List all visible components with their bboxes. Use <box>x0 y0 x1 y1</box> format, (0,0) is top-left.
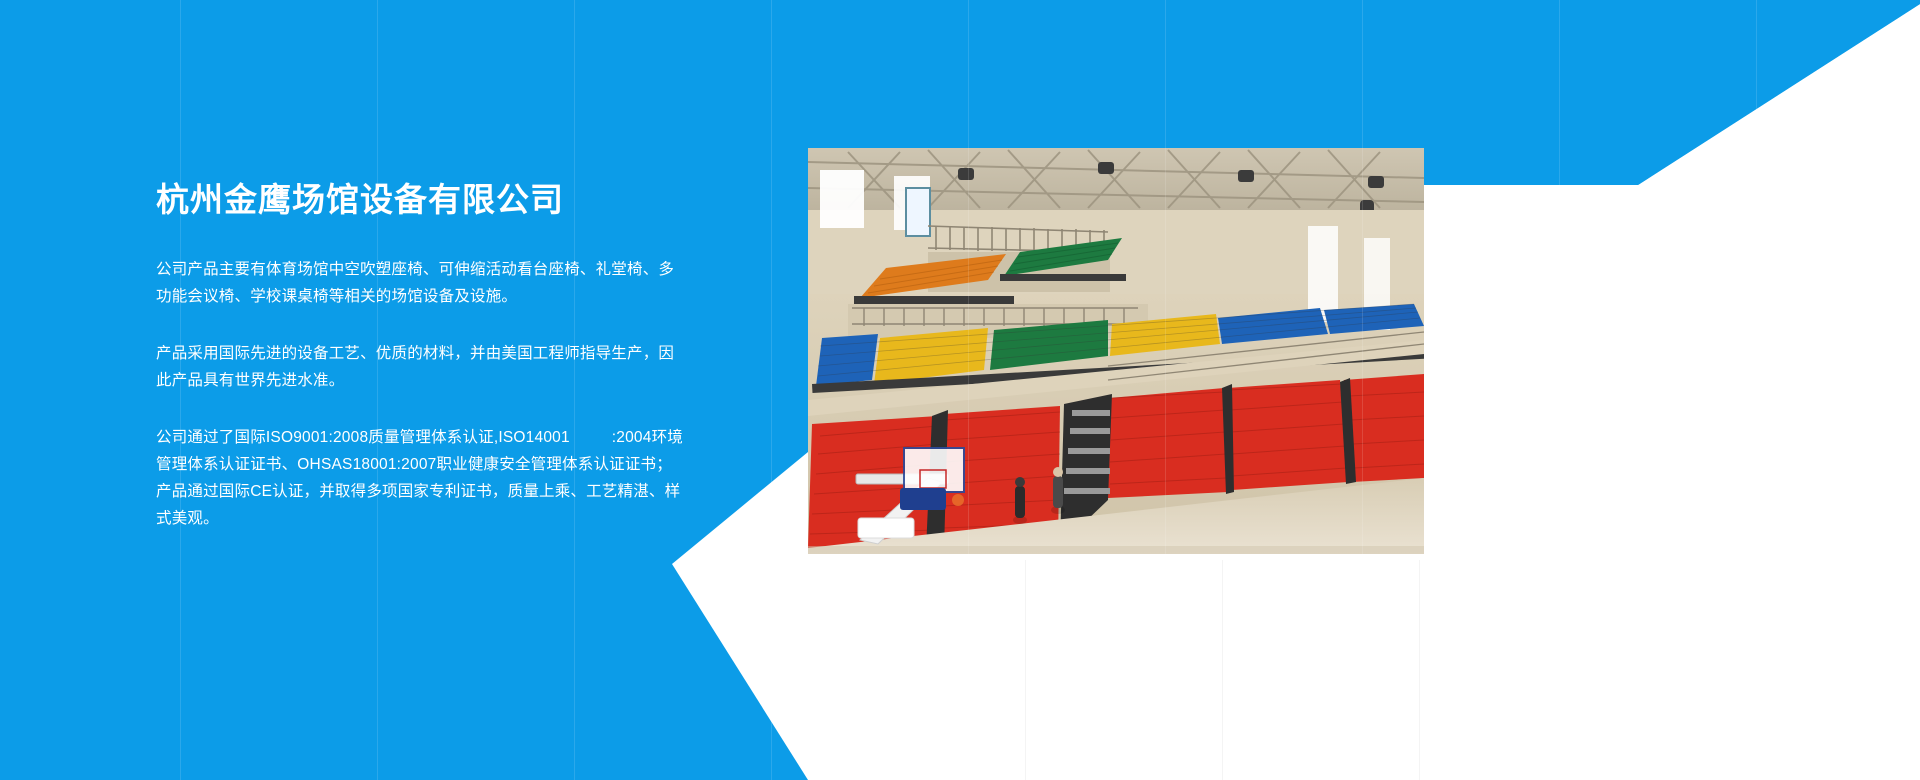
paragraph-products: 公司产品主要有体育场馆中空吹塑座椅、可伸缩活动看台座椅、礼堂椅、多 功能会议椅、… <box>156 256 661 310</box>
paragraph-certifications-line-2: 管理体系认证证书、OHSAS18001:2007职业健康安全管理体系认证证书； <box>156 451 661 478</box>
paragraph-certifications-line-4: 式美观。 <box>156 505 661 532</box>
paragraph-certifications: 公司通过了国际ISO9001:2008质量管理体系认证,ISO14001:200… <box>156 424 661 532</box>
page-title: 杭州金鹰场馆设备有限公司 <box>156 178 676 222</box>
paragraph-certifications-line-3: 产品通过国际CE认证，并取得多项国家专利证书，质量上乘、工艺精湛、样 <box>156 478 661 505</box>
banner-stage: 杭州金鹰场馆设备有限公司 公司产品主要有体育场馆中空吹塑座椅、可伸缩活动看台座椅… <box>0 0 1920 780</box>
arena-photo-illustration <box>808 148 1424 554</box>
certifications-iso14001-year: :2004环境 <box>612 429 683 446</box>
certifications-iso9001-text: 公司通过了国际ISO9001:2008质量管理体系认证,ISO14001 <box>156 429 570 446</box>
paragraph-technology-line-1: 产品采用国际先进的设备工艺、优质的材料，并由美国工程师指导生产，因 <box>156 340 661 367</box>
paragraph-technology-line-2: 此产品具有世界先进水准。 <box>156 367 661 394</box>
paragraph-technology: 产品采用国际先进的设备工艺、优质的材料，并由美国工程师指导生产，因 此产品具有世… <box>156 340 661 394</box>
paragraph-products-line-2: 功能会议椅、学校课桌椅等相关的场馆设备及设施。 <box>156 283 661 310</box>
text-column: 杭州金鹰场馆设备有限公司 公司产品主要有体育场馆中空吹塑座椅、可伸缩活动看台座椅… <box>156 178 676 532</box>
arena-photo <box>808 148 1424 554</box>
paragraph-certifications-line-1: 公司通过了国际ISO9001:2008质量管理体系认证,ISO14001:200… <box>156 424 661 451</box>
paragraph-products-line-1: 公司产品主要有体育场馆中空吹塑座椅、可伸缩活动看台座椅、礼堂椅、多 <box>156 256 661 283</box>
